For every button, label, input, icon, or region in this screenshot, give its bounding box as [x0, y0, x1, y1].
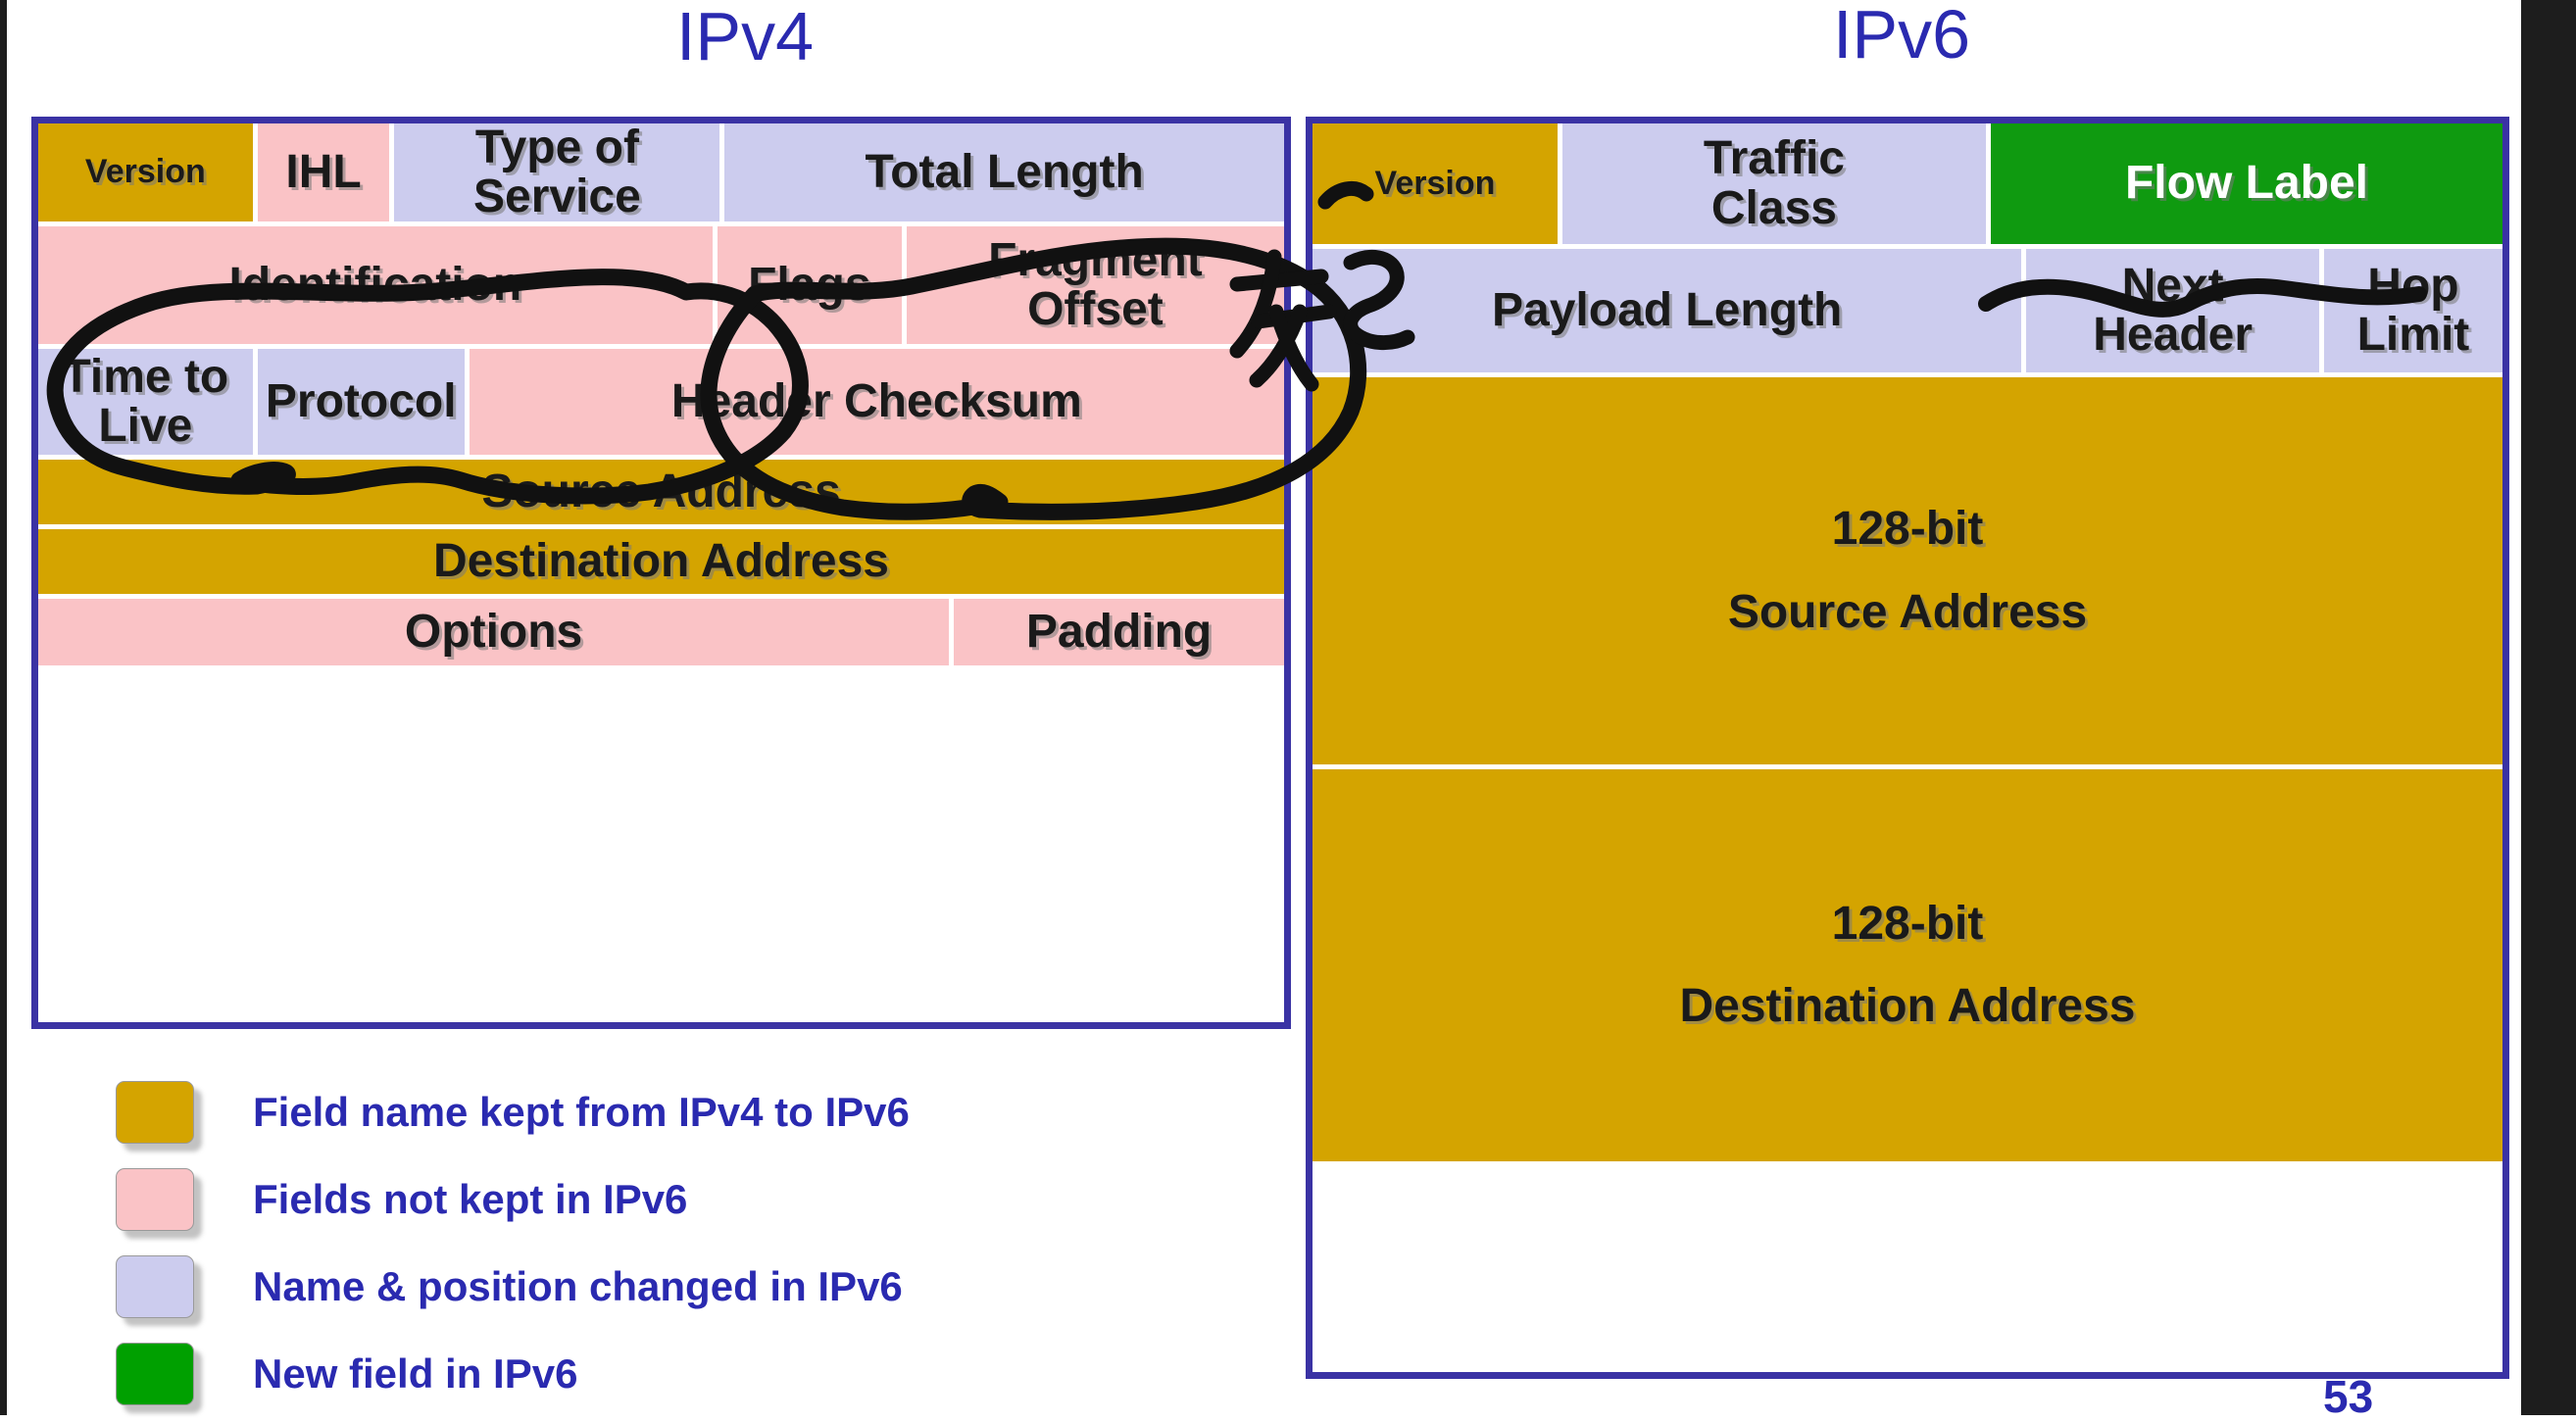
ipv6-row-4: 128-bit Destination Address	[1313, 769, 2502, 1161]
ipv6-field-source-address: 128-bit Source Address	[1313, 377, 2502, 769]
ipv4-field-protocol: Protocol	[258, 349, 470, 460]
legend-item-changed: Name & position changed in IPv6	[116, 1243, 1243, 1330]
ipv6-header-table: Version Traffic Class Flow Label Payload…	[1306, 117, 2509, 1379]
legend-swatch-green-icon	[116, 1343, 194, 1405]
ipv6-field-flow-label: Flow Label	[1991, 123, 2502, 249]
ipv4-row-5: Destination Address	[38, 529, 1284, 599]
ipv6-title: IPv6	[1412, 0, 2392, 69]
ipv4-field-fragment-offset: Fragment Offset	[907, 226, 1284, 349]
ipv6-field-payload-length: Payload Length	[1313, 249, 2026, 377]
ipv4-field-destination-address: Destination Address	[38, 529, 1284, 599]
ipv6-destination-address-line2: Destination Address	[1680, 982, 2136, 1031]
ipv4-header-table: Version IHL Type of Service Total Length…	[31, 117, 1291, 1029]
ipv4-field-ihl: IHL	[258, 123, 395, 226]
ipv6-field-hop-limit: Hop Limit	[2324, 249, 2502, 377]
ipv4-field-options: Options	[38, 599, 954, 665]
ipv4-field-time-to-live: Time to Live	[38, 349, 258, 460]
ipv6-row-2: Payload Length Next Header Hop Limit	[1313, 249, 2502, 377]
ipv6-row-3: 128-bit Source Address	[1313, 377, 2502, 769]
slide-canvas: IPv4 Version IHL Type of Service Total L…	[0, 0, 2576, 1415]
legend-item-kept: Field name kept from IPv4 to IPv6	[116, 1068, 1243, 1155]
ipv4-field-total-length: Total Length	[724, 123, 1284, 226]
ipv4-row-3: Time to Live Protocol Header Checksum	[38, 349, 1284, 460]
legend-label-not-kept: Fields not kept in IPv6	[253, 1176, 687, 1223]
legend-item-new: New field in IPv6	[116, 1330, 1243, 1417]
ipv4-row-4: Source Address	[38, 460, 1284, 529]
ipv6-row-1: Version Traffic Class Flow Label	[1313, 123, 2502, 249]
ipv6-source-address-line2: Source Address	[1728, 588, 2087, 637]
legend-label-changed: Name & position changed in IPv6	[253, 1263, 903, 1310]
ipv4-row-2: Identification Flags Fragment Offset	[38, 226, 1284, 349]
ipv4-field-type-of-service: Type of Service	[394, 123, 724, 226]
right-letterbox-band	[2521, 0, 2576, 1415]
legend-label-kept: Field name kept from IPv4 to IPv6	[253, 1089, 910, 1136]
legend-label-new: New field in IPv6	[253, 1350, 577, 1398]
ipv6-source-address-line1: 128-bit	[1832, 505, 1984, 554]
ipv4-field-identification: Identification	[38, 226, 718, 349]
left-letterbox-band	[0, 0, 7, 1415]
ipv4-field-flags: Flags	[718, 226, 907, 349]
color-legend: Field name kept from IPv4 to IPv6 Fields…	[116, 1068, 1243, 1417]
ipv6-field-version: Version	[1313, 123, 1562, 249]
legend-swatch-lavender-icon	[116, 1255, 194, 1318]
ipv4-row-6: Options Padding	[38, 599, 1284, 665]
ipv4-field-padding: Padding	[954, 599, 1284, 665]
legend-swatch-pink-icon	[116, 1168, 194, 1231]
ipv4-field-source-address: Source Address	[38, 460, 1284, 529]
ipv6-field-destination-address: 128-bit Destination Address	[1313, 769, 2502, 1161]
legend-item-not-kept: Fields not kept in IPv6	[116, 1155, 1243, 1243]
legend-swatch-gold-icon	[116, 1081, 194, 1144]
ipv6-field-traffic-class: Traffic Class	[1562, 123, 1991, 249]
ipv4-field-version: Version	[38, 123, 258, 226]
ipv4-title: IPv4	[294, 2, 1196, 71]
ipv6-field-next-header: Next Header	[2026, 249, 2324, 377]
ipv6-destination-address-line1: 128-bit	[1832, 900, 1984, 949]
ipv4-field-header-checksum: Header Checksum	[470, 349, 1284, 460]
ipv4-row-1: Version IHL Type of Service Total Length	[38, 123, 1284, 226]
